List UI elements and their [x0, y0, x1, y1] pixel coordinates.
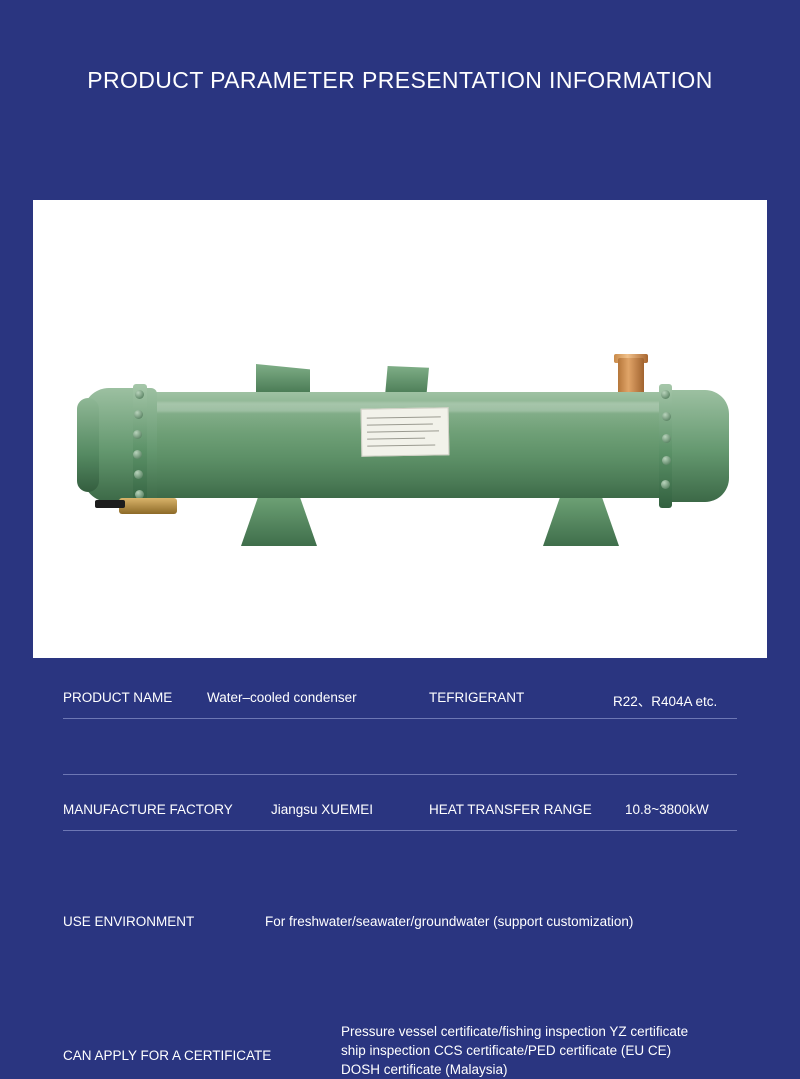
product-photo	[33, 200, 767, 658]
spec-label-certificate: CAN APPLY FOR A CERTIFICATE	[63, 1048, 271, 1063]
flange-bolt	[133, 430, 142, 439]
product-parameter-page: PRODUCT PARAMETER PRESENTATION INFORMATI…	[0, 0, 800, 949]
flange-bolt	[662, 456, 671, 465]
page-header: PRODUCT PARAMETER PRESENTATION INFORMATI…	[0, 0, 800, 160]
left-flange	[133, 384, 147, 506]
flange-bolt	[134, 410, 143, 419]
spec-row: USE ENVIRONMENT For freshwater/seawater/…	[33, 774, 767, 827]
spec-value-product-name: Water–cooled condenser	[207, 690, 357, 705]
saddle-support-right	[543, 498, 619, 546]
spec-value-certificate: Pressure vessel certificate/fishing insp…	[341, 1022, 688, 1079]
page-title: PRODUCT PARAMETER PRESENTATION INFORMATI…	[87, 67, 712, 94]
spec-row: CAN APPLY FOR A CERTIFICATE Pressure ves…	[33, 830, 767, 920]
product-image-panel	[33, 200, 767, 658]
flange-bolt	[662, 412, 671, 421]
product-nameplate	[361, 407, 450, 457]
lifting-lug-left	[256, 364, 310, 394]
spec-value-refrigerant: R22、R404A etc.	[613, 690, 717, 710]
condenser-illustration	[73, 340, 733, 570]
flange-bolt	[662, 434, 671, 443]
spec-row: MANUFACTURE FACTORY Jiangsu XUEMEI HEAT …	[33, 718, 767, 771]
spec-row: PRODUCT NAME Water–cooled condenser TEFR…	[33, 662, 767, 715]
drain-valve	[119, 498, 177, 514]
flange-bolt	[661, 390, 670, 399]
flange-bolt	[661, 480, 670, 489]
spec-label-product-name: PRODUCT NAME	[63, 690, 172, 705]
saddle-support-left	[241, 498, 317, 546]
right-head	[663, 390, 729, 502]
flange-bolt	[134, 470, 143, 479]
valve-handle	[95, 500, 125, 508]
left-end-cap	[77, 398, 99, 492]
flange-bolt	[133, 450, 142, 459]
right-flange	[659, 384, 672, 508]
flange-bolt	[135, 390, 144, 399]
spec-label-refrigerant: TEFRIGERANT	[429, 690, 524, 705]
spec-table: PRODUCT NAME Water–cooled condenser TEFR…	[33, 662, 767, 949]
